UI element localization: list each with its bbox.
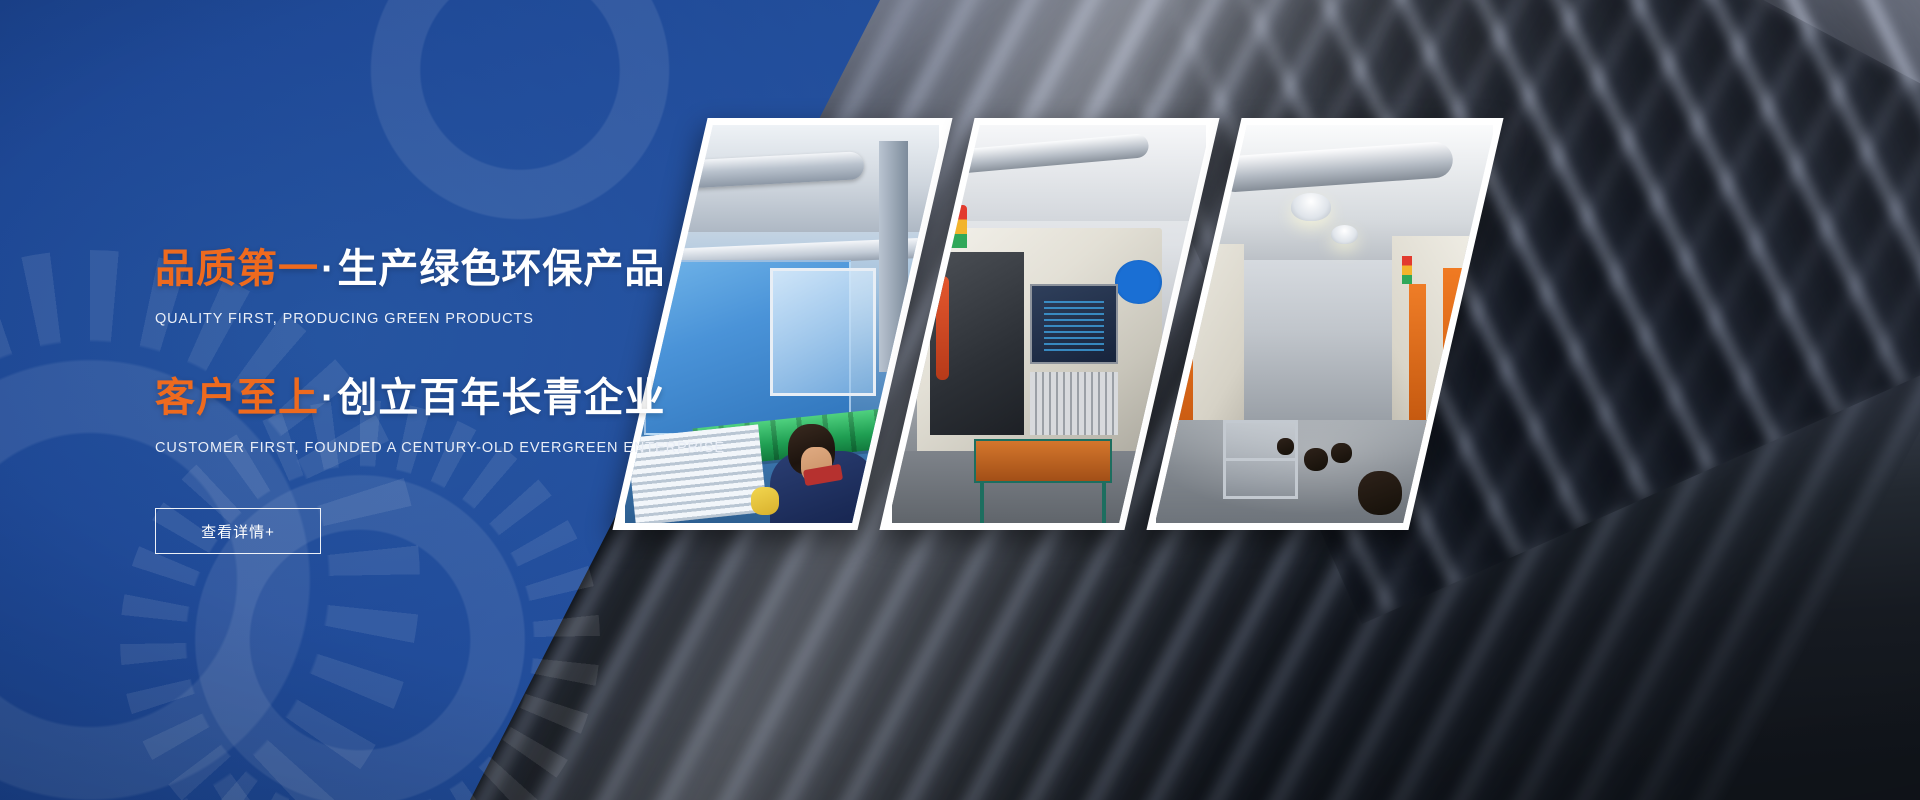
- signal-tower-light-left: [1200, 248, 1210, 276]
- headline-1: 品质第一·生产绿色环保产品: [155, 246, 725, 292]
- view-details-button[interactable]: 查看详情+: [155, 508, 321, 554]
- machine-window: [770, 268, 877, 395]
- hero-banner: 品质第一·生产绿色环保产品 QUALITY FIRST, PRODUCING G…: [0, 0, 1920, 800]
- worker-mid-left: [1305, 448, 1329, 472]
- scene-workshop-corridor: [1156, 125, 1493, 523]
- photo-3-art: [1156, 125, 1493, 523]
- work-table-legs: [980, 479, 1106, 523]
- worker-head: [1305, 448, 1329, 472]
- headline-2-accent: 客户至上: [155, 376, 319, 420]
- headline-1-rest: 生产绿色环保产品: [337, 247, 665, 291]
- headline-spacer: [155, 327, 725, 375]
- headline-2: 客户至上·创立百年长青企业: [155, 375, 725, 421]
- headline-1-accent: 品质第一: [155, 247, 319, 291]
- floor: [1156, 420, 1493, 523]
- worker-head: [1332, 443, 1352, 463]
- photo-gallery: [660, 118, 1860, 538]
- cnc-door-handle: [936, 276, 949, 379]
- subline-2: CUSTOMER FIRST, FOUNDED A CENTURY-OLD EV…: [155, 440, 725, 456]
- headline-2-rest: 创立百年长青企业: [337, 376, 665, 420]
- worker-head: [1278, 438, 1295, 455]
- signal-tower-light-right: [1403, 256, 1413, 284]
- headline-2-separator: ·: [319, 376, 337, 420]
- steel-trolley: [1224, 420, 1298, 500]
- signal-tower-light: [949, 205, 968, 249]
- worker-foreground: [1359, 471, 1403, 515]
- operator-glove: [751, 487, 779, 515]
- scene-cnc-machine: [892, 125, 1206, 523]
- hero-copy-block: 品质第一·生产绿色环保产品 QUALITY FIRST, PRODUCING G…: [155, 0, 725, 800]
- photo-2-art: [892, 125, 1206, 523]
- worker-head: [1359, 471, 1403, 515]
- headline-1-separator: ·: [319, 247, 337, 291]
- cnc-keypad: [1031, 372, 1119, 436]
- subline-1: QUALITY FIRST, PRODUCING GREEN PRODUCTS: [155, 311, 725, 327]
- work-table: [974, 439, 1112, 483]
- worker-far: [1278, 438, 1295, 455]
- robot-arm: [880, 141, 908, 372]
- orange-door-right: [1443, 268, 1470, 443]
- pendant-lamp-near: [1291, 193, 1331, 221]
- worker-mid-right: [1332, 443, 1352, 463]
- photo-3-inner: [1155, 125, 1495, 523]
- orange-door-far: [1409, 284, 1426, 427]
- cnc-screen: [1031, 284, 1119, 364]
